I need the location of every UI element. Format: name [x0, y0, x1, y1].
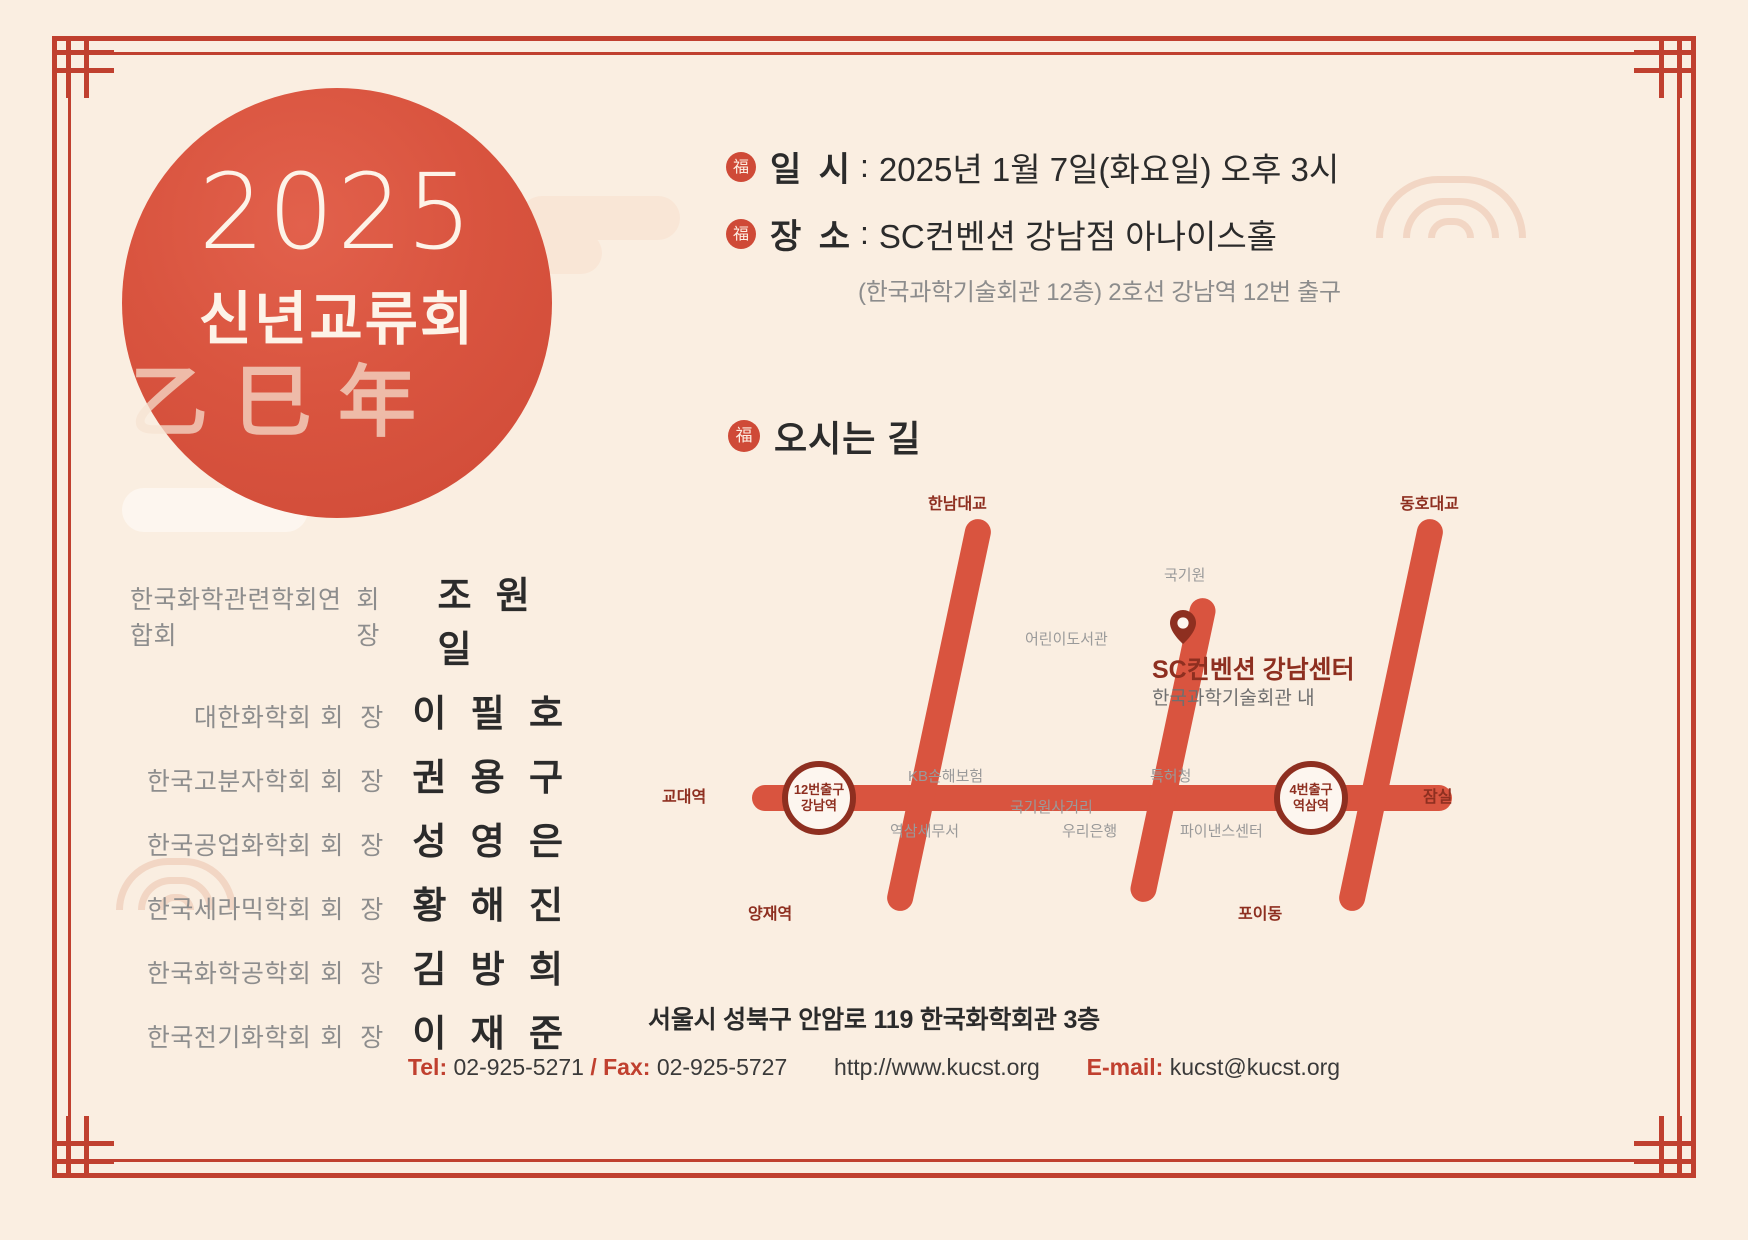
officer-role: 회 장 [356, 580, 413, 652]
date-label: 일 시 [770, 142, 854, 191]
map-endpoint-jamsil: 잠실 [1423, 783, 1452, 807]
venue-subtitle: 한국과학기술회관 내 [1152, 683, 1315, 710]
footer-contact: Tel: 02-925-5271 / Fax: 02-925-5727 http… [0, 1054, 1748, 1081]
station-exit-label: 12번출구 [794, 782, 844, 798]
station-name-label: 역삼역 [1293, 798, 1329, 814]
fax-value: 02-925-5727 [657, 1054, 787, 1080]
officer-org: 한국고분자학회 [147, 762, 312, 798]
email-label: E-mail: [1087, 1054, 1164, 1080]
map-endpoint-dongho: 동호대교 [1400, 490, 1459, 514]
officer-row: 한국고분자학회 회 장 권 용 구 [130, 747, 570, 801]
officer-name: 김 방 희 [412, 939, 570, 993]
officer-name: 권 용 구 [412, 747, 570, 801]
corner-ornament-top-right [1634, 36, 1696, 98]
contact-separator: / [590, 1054, 596, 1080]
officer-role: 회 장 [320, 826, 388, 862]
date-colon: : [860, 148, 869, 185]
map-landmark-childrens-library: 어린이도서관 [1025, 628, 1108, 649]
corner-ornament-top-left [52, 36, 114, 98]
officer-row: 한국화학관련학회연합회 회 장 조 원 일 [130, 565, 570, 673]
map-landmark-kb-insurance: KB손해보험 [908, 765, 983, 786]
tel-label: Tel: [408, 1054, 447, 1080]
corner-ornament-bottom-right [1634, 1116, 1696, 1178]
map-pin-icon [1170, 610, 1196, 644]
station-yeoksam[interactable]: 4번출구 역삼역 [1274, 761, 1348, 835]
logo-zodiac-year: 乙巳年 [130, 340, 550, 452]
officer-org: 한국세라믹학회 [147, 890, 312, 926]
officer-org: 대한화학회 [194, 698, 312, 734]
logo-year: 2025 [122, 160, 552, 264]
footer-address: 서울시 성북구 안암로 119 한국화학회관 3층 [0, 1000, 1748, 1036]
fax-label: Fax: [603, 1054, 650, 1080]
officer-row: 대한화학회 회 장 이 필 호 [130, 683, 570, 737]
place-label: 장 소 [770, 209, 854, 258]
station-exit-label: 4번출구 [1289, 782, 1332, 798]
directions-heading: 福 오시는 길 [728, 410, 921, 462]
map-landmark-patent-office: 특허청 [1150, 765, 1191, 786]
officer-name: 조 원 일 [437, 565, 570, 673]
fu-icon: 福 [726, 219, 756, 249]
officer-role: 회 장 [320, 890, 388, 926]
place-colon: : [860, 215, 869, 252]
officer-name: 이 필 호 [412, 683, 570, 737]
venue-title: SC컨벤션 강남센터 [1152, 650, 1355, 686]
corner-ornament-bottom-left [52, 1116, 114, 1178]
map-landmark-gukgiwon: 국기원 [1164, 564, 1205, 585]
officer-row: 한국공업화학회 회 장 성 영 은 [130, 811, 570, 865]
station-gangnam[interactable]: 12번출구 강남역 [782, 761, 856, 835]
directions-title: 오시는 길 [774, 410, 921, 462]
footer: 서울시 성북구 안암로 119 한국화학회관 3층 Tel: 02-925-52… [0, 1000, 1748, 1081]
map-landmark-finance-center: 파이낸스센터 [1180, 820, 1263, 841]
map-landmark-woori-bank: 우리은행 [1062, 820, 1117, 841]
officer-org: 한국공업화학회 [147, 826, 312, 862]
event-date-row: 福 일 시 : 2025년 1월 7일(화요일) 오후 3시 [726, 142, 1341, 191]
tel-value: 02-925-5271 [454, 1054, 584, 1080]
map-endpoint-poi: 포이동 [1238, 900, 1282, 924]
officer-row: 한국세라믹학회 회 장 황 해 진 [130, 875, 570, 929]
place-subtext: (한국과학기술회관 12층) 2호선 강남역 12번 출구 [858, 272, 1341, 307]
poster-canvas: 2025 신년교류회 乙巳年 福 일 시 : 2025년 1월 7일(화요일) … [0, 0, 1748, 1240]
email-value[interactable]: kucst@kucst.org [1170, 1054, 1340, 1080]
location-map: 한남대교 동호대교 양재역 포이동 교대역 잠실 국기원 어린이도서관 KB손해… [640, 480, 1540, 940]
date-value: 2025년 1월 7일(화요일) 오후 3시 [879, 143, 1339, 191]
officer-name: 성 영 은 [412, 811, 570, 865]
officer-role: 회 장 [320, 698, 388, 734]
event-place-row: 福 장 소 : SC컨벤션 강남점 아나이스홀 [726, 209, 1341, 258]
officer-role: 회 장 [320, 954, 388, 990]
officer-org: 한국화학관련학회연합회 [130, 580, 347, 652]
event-info: 福 일 시 : 2025년 1월 7일(화요일) 오후 3시 福 장 소 : S… [726, 142, 1341, 307]
road-diagonal-hannam [885, 517, 994, 914]
road-diagonal-dongho [1337, 517, 1446, 914]
logo-circle: 2025 신년교류회 [122, 88, 552, 518]
officer-role: 회 장 [320, 762, 388, 798]
place-value: SC컨벤션 강남점 아나이스홀 [879, 210, 1277, 258]
map-endpoint-hannam: 한남대교 [928, 490, 987, 514]
station-name-label: 강남역 [801, 798, 837, 814]
officers-list: 한국화학관련학회연합회 회 장 조 원 일 대한화학회 회 장 이 필 호 한국… [130, 565, 570, 1067]
map-landmark-gukgiwon-crossroad: 국기원사거리 [1010, 796, 1093, 817]
officer-row: 한국화학공학회 회 장 김 방 희 [130, 939, 570, 993]
map-endpoint-gyodae: 교대역 [662, 783, 706, 807]
officer-name: 황 해 진 [412, 875, 570, 929]
website-link[interactable]: http://www.kucst.org [834, 1054, 1040, 1080]
wave-arc-ornament [1376, 176, 1526, 238]
map-endpoint-yangjae: 양재역 [748, 900, 792, 924]
fu-icon: 福 [728, 420, 760, 452]
fu-icon: 福 [726, 152, 756, 182]
officer-org: 한국화학공학회 [147, 954, 312, 990]
map-landmark-yeoksam-tax: 역삼세무서 [890, 820, 959, 841]
